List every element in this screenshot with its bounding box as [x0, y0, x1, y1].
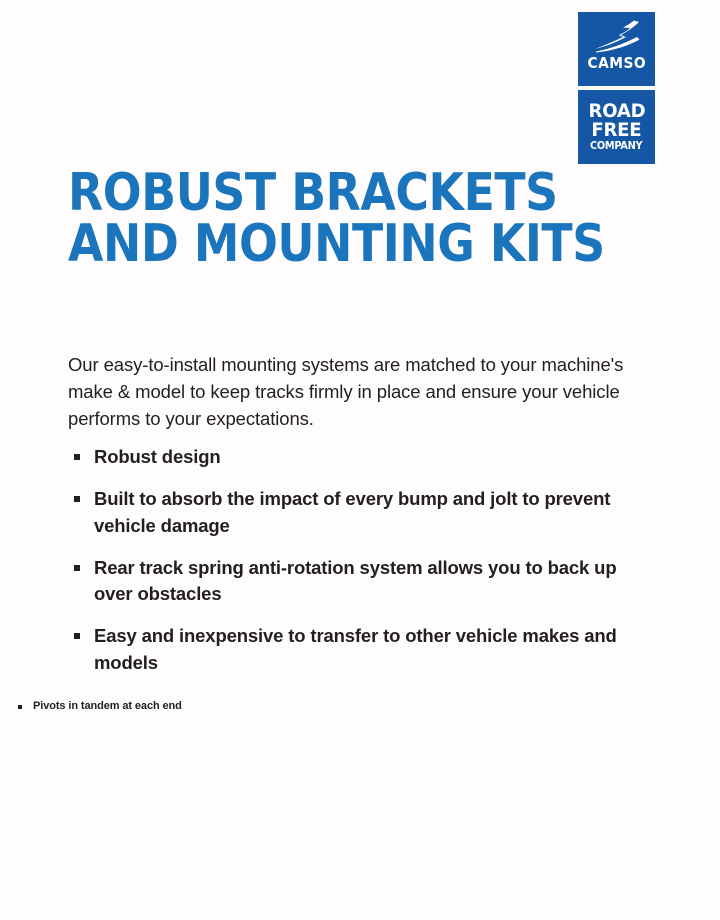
- road-free-line-2: FREE: [591, 121, 641, 139]
- figure-caption-label: Pivots in tandem at each end: [33, 700, 182, 712]
- square-bullet-icon: [74, 565, 80, 571]
- road-free-line-3: COMPANY: [590, 141, 642, 151]
- list-item-label: Easy and inexpensive to transfer to othe…: [94, 625, 617, 672]
- road-free-company-logo: ROAD FREE COMPANY: [578, 90, 655, 164]
- product-illustration: [0, 718, 720, 893]
- square-bullet-icon: [74, 633, 80, 639]
- figure-caption: Pivots in tandem at each end: [18, 700, 182, 712]
- intro-paragraph: Our easy-to-install mounting systems are…: [68, 352, 638, 432]
- list-item: Rear track spring anti-rotation system a…: [72, 555, 652, 608]
- list-item-label: Built to absorb the impact of every bump…: [94, 488, 610, 535]
- list-item-label: Robust design: [94, 446, 221, 467]
- camso-logo: CAMSO: [578, 12, 655, 86]
- list-item-label: Rear track spring anti-rotation system a…: [94, 557, 617, 604]
- camso-chevron-mark-icon: [593, 19, 641, 53]
- list-item: Built to absorb the impact of every bump…: [72, 486, 652, 539]
- page-title: ROBUST BRACKETS AND MOUNTING KITS: [68, 168, 605, 270]
- camso-wordmark: CAMSO: [587, 56, 646, 71]
- square-bullet-icon: [74, 496, 80, 502]
- brand-logo-block: CAMSO ROAD FREE COMPANY: [578, 12, 655, 164]
- list-item: Easy and inexpensive to transfer to othe…: [72, 623, 652, 676]
- list-item: Robust design: [72, 444, 652, 470]
- square-bullet-icon: [74, 454, 80, 460]
- feature-bullet-list: Robust design Built to absorb the impact…: [72, 444, 652, 676]
- product-figure-area: [0, 718, 720, 893]
- marketing-page: CAMSO ROAD FREE COMPANY ROBUST BRACKETS …: [0, 0, 720, 920]
- square-bullet-icon: [18, 705, 22, 709]
